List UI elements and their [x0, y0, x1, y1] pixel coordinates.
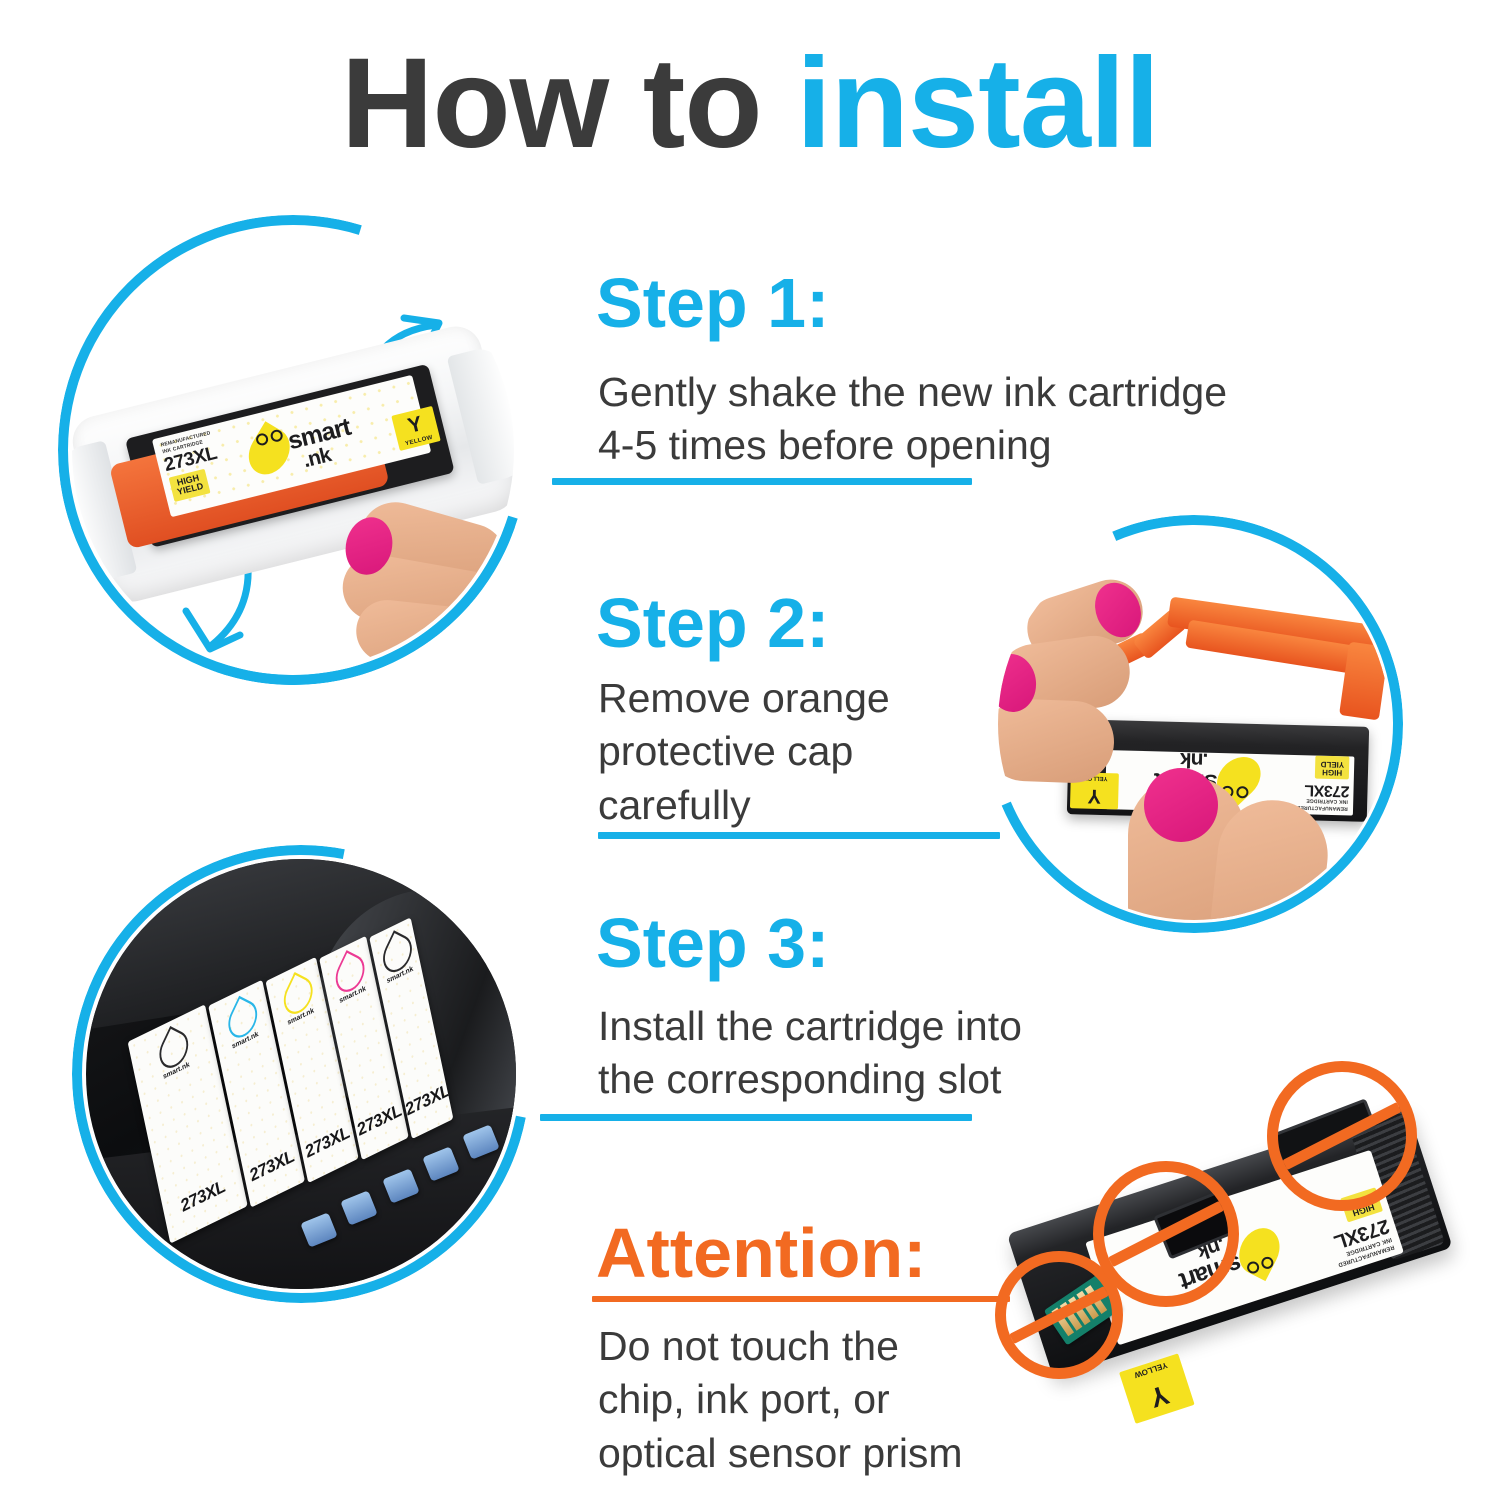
brand-nk: .nk	[301, 443, 333, 473]
step-2-body: Remove orange protective cap carefully	[598, 672, 890, 832]
step-3-photo-inner: smart.nk273XLBBLACKsmart.nk273XLCCYANsma…	[86, 859, 516, 1289]
step-2-photo-inner: REMANUFACTURED INK CARTRIDGE 273XL HIGH …	[998, 528, 1390, 920]
step-3-body-line1: Install the cartridge into	[598, 1000, 1022, 1053]
hand-holding-pouch	[328, 477, 514, 671]
step-3-divider	[540, 1114, 972, 1121]
attention-body-line3: optical sensor prism	[598, 1427, 963, 1480]
step-2-divider	[598, 832, 1000, 839]
page-title-part1: How to	[341, 32, 796, 175]
page-title-part2: install	[796, 32, 1159, 175]
step-2-heading: Step 2:	[596, 588, 829, 658]
attention-photo: REMANUFACTURED INK CARTRIDGE 273XL HIGH …	[985, 1055, 1485, 1475]
step-1-heading: Step 1:	[596, 268, 829, 338]
do-not-touch-ink-port-marker-icon	[1093, 1161, 1239, 1307]
hand-holding-cartridge	[1118, 730, 1348, 920]
do-not-touch-prism-marker-icon	[1267, 1061, 1417, 1211]
step-1-divider	[552, 478, 972, 485]
step-3-body-line2: the corresponding slot	[598, 1053, 1022, 1106]
step-1-body-line1: Gently shake the new ink cartridge	[598, 366, 1227, 419]
step-1-photo: REMANUFACTURED INK CARTRIDGE 273XL HIGH …	[58, 215, 528, 685]
attention-divider	[592, 1296, 1010, 1302]
step-2-body-line3: carefully	[598, 779, 890, 832]
step-2-body-line2: protective cap	[598, 725, 890, 778]
mascot-glasses-icon	[255, 427, 289, 447]
step-3-photo: smart.nk273XLBBLACKsmart.nk273XLCCYANsma…	[72, 845, 530, 1303]
page-title: How to install	[0, 40, 1500, 168]
step-2-photo: REMANUFACTURED INK CARTRIDGE 273XL HIGH …	[985, 515, 1403, 933]
step-1-photo-inner: REMANUFACTURED INK CARTRIDGE 273XL HIGH …	[72, 229, 514, 671]
step-2-body-line1: Remove orange	[598, 672, 890, 725]
attention-body: Do not touch the chip, ink port, or opti…	[598, 1320, 963, 1480]
step-3-body: Install the cartridge into the correspon…	[598, 1000, 1022, 1107]
infographic-canvas: How to install REM	[0, 0, 1500, 1500]
step-1-body: Gently shake the new ink cartridge 4-5 t…	[598, 366, 1227, 473]
mascot-glasses-icon-4	[1240, 1254, 1274, 1276]
attention-heading: Attention:	[596, 1218, 926, 1288]
attention-body-line1: Do not touch the	[598, 1320, 963, 1373]
attention-body-line2: chip, ink port, or	[598, 1373, 963, 1426]
step-1-body-line2: 4-5 times before opening	[598, 419, 1227, 472]
color-badge-yellow-4: Y YELLOW	[1119, 1353, 1195, 1424]
step-3-heading: Step 3:	[596, 908, 829, 978]
pink-nail-4	[1144, 768, 1218, 842]
